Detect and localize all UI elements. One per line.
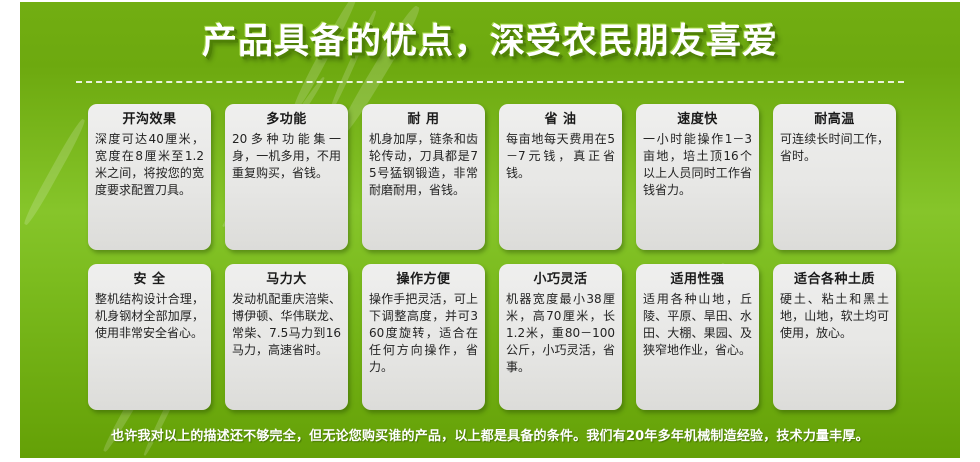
title-area: 产品具备的优点，深受农民朋友喜爱: [20, 20, 960, 64]
page-title: 产品具备的优点，深受农民朋友喜爱: [202, 20, 778, 64]
feature-card: 耐 用 机身加厚，链条和齿轮传动，刀具都是75号猛钢锻造，非常耐磨耐用，省钱。: [362, 104, 485, 250]
feature-card-body: 可连续长时间工作，省时。: [780, 131, 889, 165]
feature-card-body: 机身加厚，链条和齿轮传动，刀具都是75号猛钢锻造，非常耐磨耐用，省钱。: [369, 131, 478, 199]
footer-text: 也许我对以上的描述还不够完全，但无论您购买谁的产品，以上都是具备的条件。我们有2…: [111, 428, 869, 446]
feature-card: 耐高温 可连续长时间工作，省时。: [773, 104, 896, 250]
feature-card-title: 多功能: [232, 111, 341, 128]
title-divider: [76, 81, 904, 83]
feature-card-title: 安 全: [95, 271, 204, 288]
feature-card-title: 省 油: [506, 111, 615, 128]
feature-card-title: 耐 用: [369, 111, 478, 128]
feature-card: 安 全 整机结构设计合理，机身钢材全部加厚，使用非常安全省心。: [88, 264, 211, 410]
feature-card: 小巧灵活 机器宽度最小38厘米，高70厘米，长1.2米，重80－100公斤，小巧…: [499, 264, 622, 410]
feature-card-grid: 开沟效果 深度可达40厘米，宽度在8厘米至1.2米之间，将按您的宽度要求配置刀具…: [88, 104, 896, 410]
feature-card-title: 开沟效果: [95, 111, 204, 128]
feature-card-body: 每亩地每天费用在5－7元钱，真正省钱。: [506, 131, 615, 182]
feature-card: 马力大 发动机配重庆涪柴、博伊顿、华伟联龙、常柴、7.5马力到16马力，高速省时…: [225, 264, 348, 410]
feature-card-title: 速度快: [643, 111, 752, 128]
promo-poster: 产品具备的优点，深受农民朋友喜爱 开沟效果 深度可达40厘米，宽度在8厘米至1.…: [20, 2, 960, 458]
feature-card-title: 小巧灵活: [506, 271, 615, 288]
feature-card-body: 操作手把灵活，可上下调整高度，并可360度旋转，适合在任何方向操作，省力。: [369, 291, 478, 376]
feature-card-body: 深度可达40厘米，宽度在8厘米至1.2米之间，将按您的宽度要求配置刀具。: [95, 131, 204, 199]
feature-card-body: 适用各种山地，丘陵、平原、旱田、水田、大棚、果园、及狭窄地作业，省心。: [643, 291, 752, 359]
feature-card-body: 一小时能操作1－3亩地，培土顶16个以上人员同时工作省钱省力。: [643, 131, 752, 199]
feature-card-title: 耐高温: [780, 111, 889, 128]
feature-card-body: 整机结构设计合理，机身钢材全部加厚，使用非常安全省心。: [95, 291, 204, 342]
feature-card: 速度快 一小时能操作1－3亩地，培土顶16个以上人员同时工作省钱省力。: [636, 104, 759, 250]
feature-card: 省 油 每亩地每天费用在5－7元钱，真正省钱。: [499, 104, 622, 250]
feature-row-1: 开沟效果 深度可达40厘米，宽度在8厘米至1.2米之间，将按您的宽度要求配置刀具…: [88, 104, 896, 250]
feature-card-title: 马力大: [232, 271, 341, 288]
feature-card-body: 机器宽度最小38厘米，高70厘米，长1.2米，重80－100公斤，小巧灵活，省事…: [506, 291, 615, 376]
feature-card: 开沟效果 深度可达40厘米，宽度在8厘米至1.2米之间，将按您的宽度要求配置刀具…: [88, 104, 211, 250]
feature-card-title: 操作方便: [369, 271, 478, 288]
feature-card: 多功能 20多种功能集一身，一机多用，不用重复购买，省钱。: [225, 104, 348, 250]
feature-card-title: 适用性强: [643, 271, 752, 288]
watermark-stroke: [21, 117, 87, 226]
feature-card: 适合各种土质 硬土、粘土和黑土地，山地，软土均可使用，放心。: [773, 264, 896, 410]
footer-area: 也许我对以上的描述还不够完全，但无论您购买谁的产品，以上都是具备的条件。我们有2…: [20, 425, 960, 446]
feature-row-2: 安 全 整机结构设计合理，机身钢材全部加厚，使用非常安全省心。 马力大 发动机配…: [88, 264, 896, 410]
feature-card-body: 20多种功能集一身，一机多用，不用重复购买，省钱。: [232, 131, 341, 182]
feature-card-body: 硬土、粘土和黑土地，山地，软土均可使用，放心。: [780, 291, 889, 342]
feature-card: 操作方便 操作手把灵活，可上下调整高度，并可360度旋转，适合在任何方向操作，省…: [362, 264, 485, 410]
feature-card: 适用性强 适用各种山地，丘陵、平原、旱田、水田、大棚、果园、及狭窄地作业，省心。: [636, 264, 759, 410]
feature-card-body: 发动机配重庆涪柴、博伊顿、华伟联龙、常柴、7.5马力到16马力，高速省时。: [232, 291, 341, 359]
feature-card-title: 适合各种土质: [780, 271, 889, 288]
